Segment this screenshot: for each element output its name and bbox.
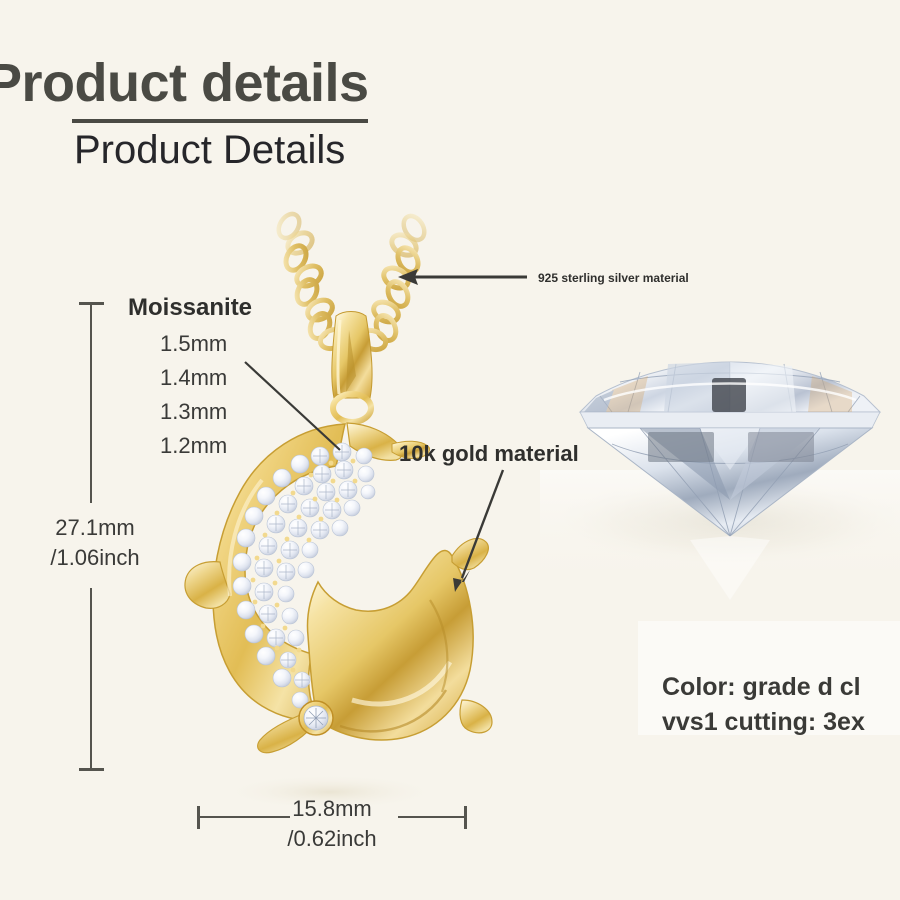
grade-info-line-2: vvs1 cutting: 3ex — [662, 705, 900, 740]
width-cap-right — [464, 806, 467, 829]
sterling-silver-label: 925 sterling silver material — [538, 271, 689, 285]
width-mm: 15.8mm — [236, 794, 428, 824]
height-line-lower — [90, 588, 92, 770]
moissanite-leader-line — [245, 362, 340, 450]
width-line-right — [398, 816, 466, 818]
moissanite-size-4: 1.2mm — [160, 429, 227, 463]
product-detail-image: Product details Product Details Moissani… — [0, 0, 900, 900]
moissanite-size-1: 1.5mm — [160, 327, 227, 361]
height-line-upper — [90, 303, 92, 503]
moissanite-label: Moissanite — [128, 294, 252, 322]
moissanite-size-3: 1.3mm — [160, 395, 227, 429]
width-inch: /0.62inch — [236, 824, 428, 854]
height-mm: 27.1mm — [30, 513, 160, 543]
page-title-bold: Product details — [0, 52, 369, 114]
width-dimension-text: 15.8mm /0.62inch — [236, 794, 428, 854]
moissanite-size-list: 1.5mm 1.4mm 1.3mm 1.2mm — [160, 327, 227, 463]
gold-leader-arrow — [453, 470, 503, 592]
grade-info-line-1: Color: grade d cl — [662, 670, 900, 705]
title-underline-rule — [72, 119, 368, 123]
silver-leader-arrow — [398, 269, 527, 285]
grade-info-text: Color: grade d cl vvs1 cutting: 3ex — [662, 670, 900, 740]
page-title-light: Product Details — [74, 128, 345, 173]
moissanite-size-2: 1.4mm — [160, 361, 227, 395]
height-inch: /1.06inch — [30, 543, 160, 573]
gold-material-label: 10k gold material — [399, 441, 579, 467]
height-dimension-text: 27.1mm /1.06inch — [30, 513, 160, 573]
height-cap-bottom — [79, 768, 104, 771]
